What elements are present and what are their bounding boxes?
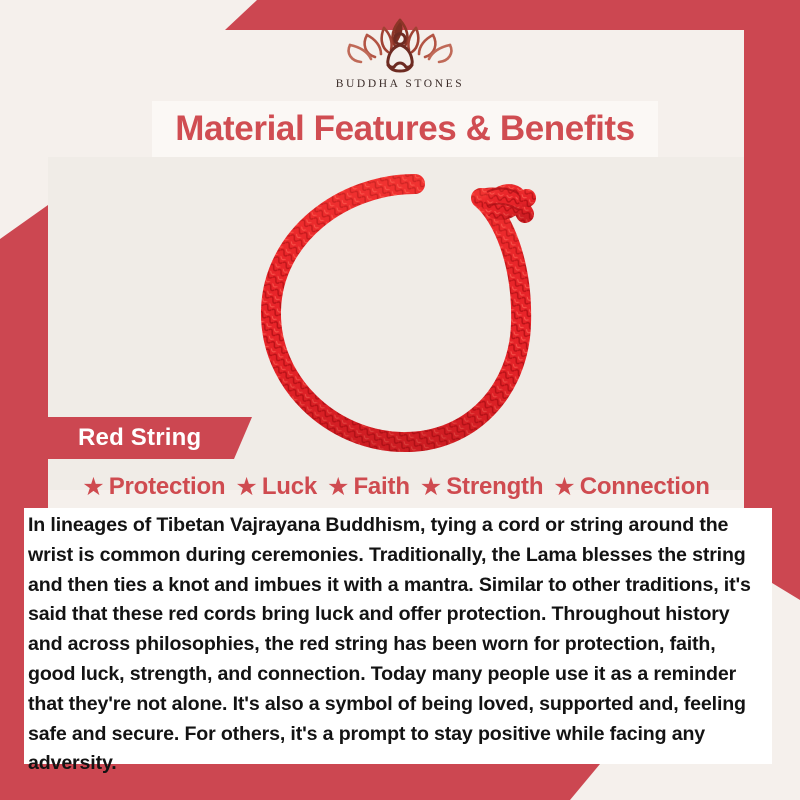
lotus-meditation-icon: [334, 15, 466, 77]
benefit-label: Faith: [353, 473, 409, 501]
page-title-band: Material Features & Benefits: [152, 101, 658, 157]
benefit-label: Protection: [109, 473, 226, 501]
description-text: In lineages of Tibetan Vajrayana Buddhis…: [24, 511, 772, 779]
star-icon: ★: [82, 475, 104, 500]
benefit-item: ★ Strength: [420, 473, 543, 501]
star-icon: ★: [553, 475, 575, 500]
brand-logo: BUDDHA STONES: [334, 15, 466, 90]
benefit-label: Connection: [580, 473, 710, 501]
star-icon: ★: [420, 475, 442, 500]
star-icon: ★: [235, 475, 257, 500]
star-icon: ★: [327, 475, 349, 500]
benefit-item: ★ Connection: [553, 473, 709, 501]
infographic-poster: BUDDHA STONES Material Features & Benefi…: [0, 0, 800, 800]
benefits-row: ★ Protection ★ Luck ★ Faith ★ Strength ★…: [48, 466, 744, 508]
benefit-item: ★ Faith: [327, 473, 410, 501]
page-title: Material Features & Benefits: [175, 109, 635, 149]
benefit-label: Luck: [262, 473, 317, 501]
description-panel: In lineages of Tibetan Vajrayana Buddhis…: [24, 508, 772, 764]
benefit-label: Strength: [446, 473, 543, 501]
brand-header: BUDDHA STONES: [0, 0, 800, 100]
product-label-banner: Red String: [28, 417, 252, 459]
benefit-item: ★ Protection: [82, 473, 225, 501]
brand-name: BUDDHA STONES: [336, 78, 464, 90]
product-label: Red String: [78, 424, 201, 452]
red-string-bracelet-icon: [235, 158, 565, 468]
benefit-item: ★ Luck: [235, 473, 317, 501]
